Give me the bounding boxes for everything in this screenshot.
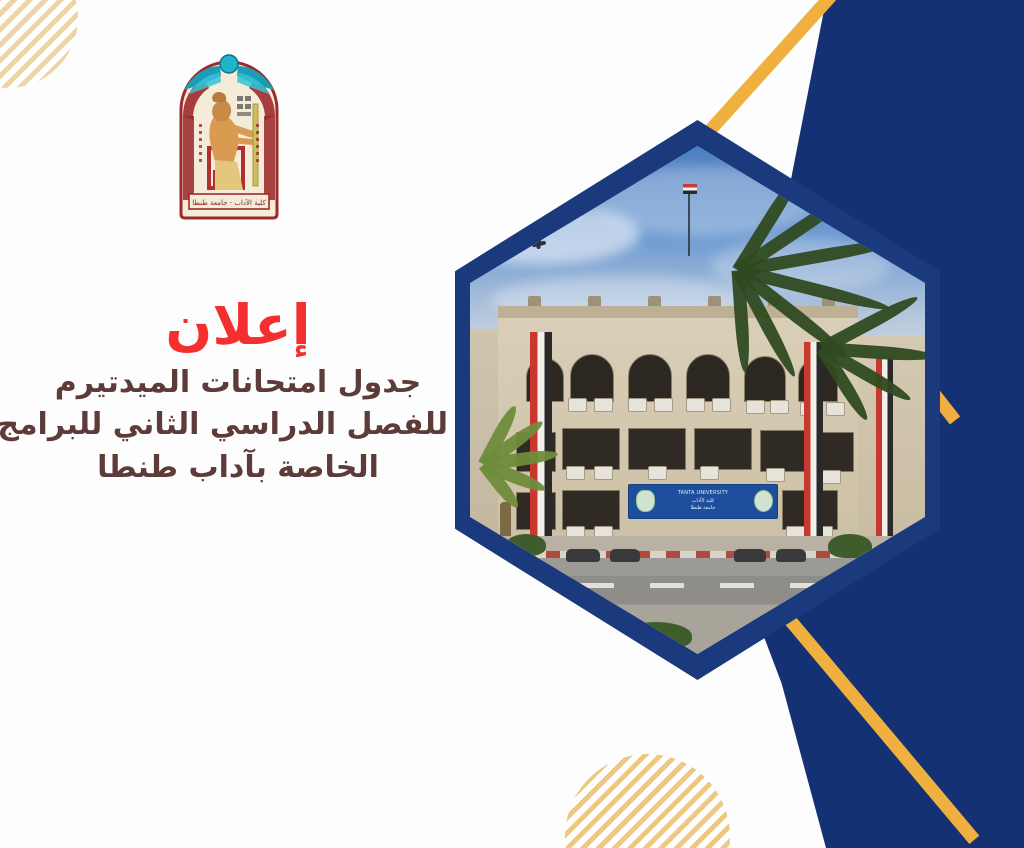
flagpole xyxy=(688,186,690,256)
window xyxy=(562,428,620,470)
sign-line-1: TANTA UNIVERSITY xyxy=(678,490,728,498)
logo-caption-text: كلية الآداب - جامعة طنطا xyxy=(192,198,266,207)
parked-vehicle xyxy=(610,549,640,562)
roof-vent xyxy=(648,296,661,306)
ac-unit xyxy=(568,398,587,412)
flag-on-pole xyxy=(683,184,697,194)
parked-vehicle xyxy=(734,549,766,562)
ac-unit xyxy=(766,468,785,482)
announcement-text-block: إعلان جدول امتحانات الميدتيرم للفصل الدر… xyxy=(28,295,448,489)
road-marking xyxy=(720,583,754,588)
sign-line-3: جامعة طنطا xyxy=(678,505,728,513)
window xyxy=(694,428,752,470)
window xyxy=(818,432,854,472)
ac-unit xyxy=(826,402,845,416)
sign-emblem-right xyxy=(754,490,773,512)
announcement-line-3: الخاصة بآداب طنطا xyxy=(28,447,448,490)
sign-emblem-left xyxy=(636,490,655,512)
roof-vent xyxy=(708,296,721,306)
ac-unit xyxy=(770,400,789,414)
ac-unit xyxy=(746,400,765,414)
roof-vent xyxy=(588,296,601,306)
ac-unit xyxy=(654,398,673,412)
ac-unit xyxy=(712,398,731,412)
striped-circle-top-left xyxy=(0,0,78,88)
roof-vent xyxy=(768,296,781,306)
announcement-line-1: جدول امتحانات الميدتيرم xyxy=(28,362,448,405)
ac-unit xyxy=(594,466,613,480)
parked-vehicle xyxy=(566,549,600,562)
ac-unit xyxy=(566,466,585,480)
road-marking xyxy=(650,583,684,588)
cloud xyxy=(710,238,890,293)
arched-window xyxy=(570,354,614,402)
striped-circle-bottom xyxy=(565,754,730,848)
road-marking xyxy=(510,583,544,588)
window xyxy=(562,490,620,530)
roof-vent xyxy=(528,296,541,306)
poster-canvas: TANTA UNIVERSITY كلية الآداب جامعة طنطا xyxy=(0,0,1024,848)
arched-window xyxy=(686,354,730,402)
ac-unit xyxy=(594,398,613,412)
ac-unit xyxy=(648,466,667,480)
arched-window xyxy=(628,354,672,402)
ac-unit xyxy=(628,398,647,412)
page-title: إعلان xyxy=(28,295,448,356)
building-roof-cap xyxy=(498,306,858,318)
parked-vehicle xyxy=(776,549,806,562)
ac-unit xyxy=(700,466,719,480)
arched-window xyxy=(744,356,786,402)
ac-unit xyxy=(686,398,705,412)
announcement-line-2: للفصل الدراسي الثاني للبرامج xyxy=(28,404,448,447)
faculty-logo: كلية الآداب - جامعة طنطا xyxy=(175,42,283,222)
window xyxy=(628,428,686,470)
roof-vent xyxy=(822,296,835,306)
sign-line-2: كلية الآداب xyxy=(678,498,728,506)
ac-unit xyxy=(822,470,841,484)
